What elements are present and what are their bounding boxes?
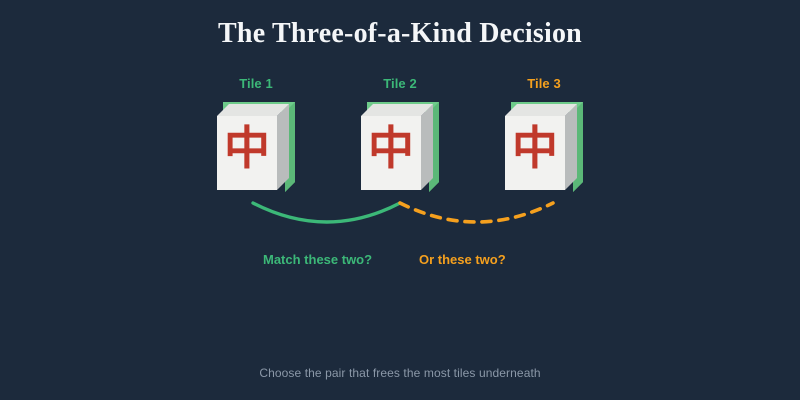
arc-caption-right: Or these two? [419, 252, 506, 267]
mahjong-tile-2[interactable]: 中 [355, 98, 447, 196]
page-title: The Three-of-a-Kind Decision [0, 18, 800, 50]
connector-arcs [0, 0, 800, 400]
tile-label-3: Tile 3 [484, 76, 604, 91]
mahjong-tile-3[interactable]: 中 [499, 98, 591, 196]
pair-arc-left [253, 203, 400, 222]
tile-symbol-3: 中 [512, 121, 558, 175]
tile-label-2: Tile 2 [340, 76, 460, 91]
arc-caption-left: Match these two? [263, 252, 372, 267]
tile-label-1: Tile 1 [196, 76, 316, 91]
pair-arc-right [400, 203, 553, 222]
tile-symbol-2: 中 [368, 121, 414, 175]
tile-symbol-1: 中 [224, 121, 270, 175]
footer-hint: Choose the pair that frees the most tile… [0, 366, 800, 380]
mahjong-tile-1[interactable]: 中 [211, 98, 303, 196]
infographic-canvas: The Three-of-a-Kind Decision Tile 1 Tile… [0, 0, 800, 400]
